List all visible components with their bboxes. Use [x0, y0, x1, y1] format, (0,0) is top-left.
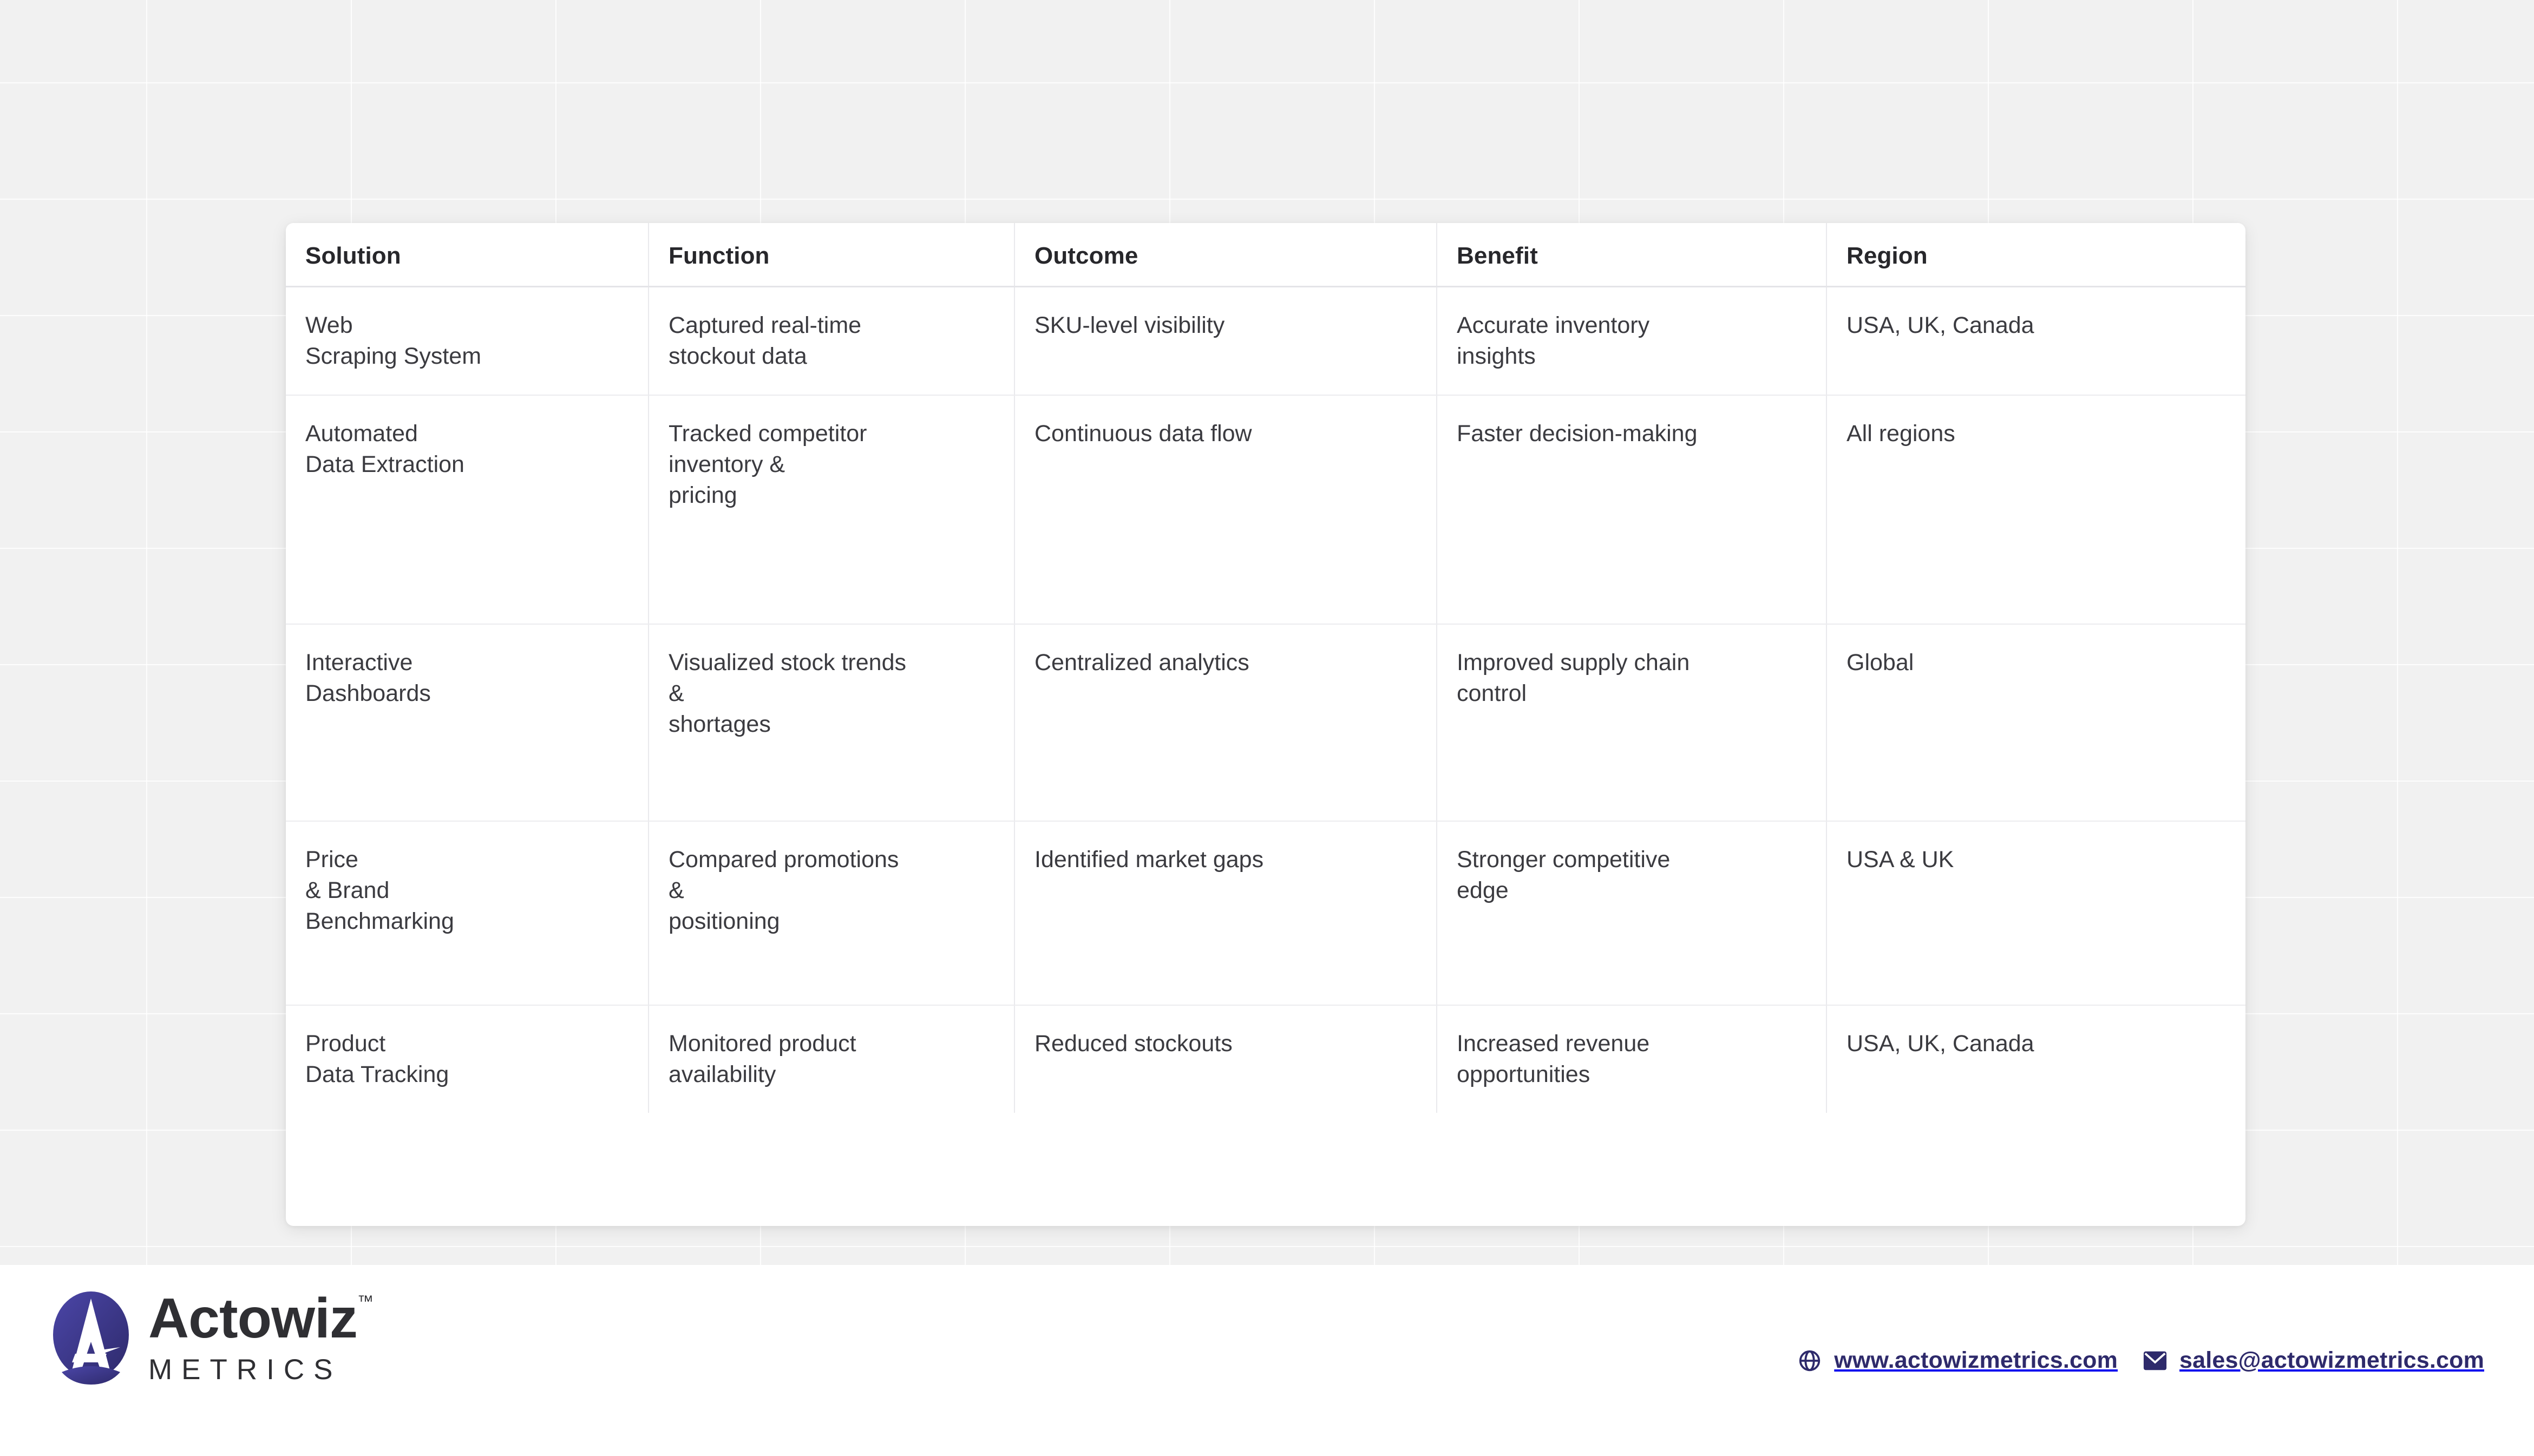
globe-icon: [1797, 1348, 1822, 1373]
column-header-outcome: Outcome: [1014, 223, 1437, 286]
table-header-row: Solution Function Outcome Benefit Region: [286, 223, 2245, 286]
cell-benefit: Stronger competitive edge: [1437, 821, 1826, 1005]
brand-wordmark: Actowiz ™ METRICS: [148, 1290, 374, 1384]
cell-outcome: Identified market gaps: [1014, 821, 1437, 1005]
table-row: Product Data Tracking Monitored product …: [286, 1005, 2245, 1113]
cell-region: USA & UK: [1826, 821, 2245, 1005]
table-body: Web Scraping System Captured real-time s…: [286, 286, 2245, 1113]
website-link-label: www.actowizmetrics.com: [1834, 1347, 2118, 1374]
cell-outcome: SKU-level visibility: [1014, 286, 1437, 395]
email-link-label: sales@actowizmetrics.com: [2179, 1347, 2484, 1374]
cell-function: Tracked competitor inventory & pricing: [649, 395, 1014, 624]
cell-benefit: Faster decision-making: [1437, 395, 1826, 624]
cell-solution: Interactive Dashboards: [286, 624, 649, 821]
table-row: Interactive Dashboards Visualized stock …: [286, 624, 2245, 821]
envelope-icon: [2143, 1350, 2168, 1372]
cell-function: Compared promotions & positioning: [649, 821, 1014, 1005]
cell-benefit: Improved supply chain control: [1437, 624, 1826, 821]
cell-region: All regions: [1826, 395, 2245, 624]
cell-region: Global: [1826, 624, 2245, 821]
email-link[interactable]: sales@actowizmetrics.com: [2143, 1347, 2484, 1374]
cell-region: USA, UK, Canada: [1826, 286, 2245, 395]
trademark-symbol: ™: [357, 1294, 374, 1310]
cell-function: Captured real-time stockout data: [649, 286, 1014, 395]
cell-solution: Web Scraping System: [286, 286, 649, 395]
cell-solution: Automated Data Extraction: [286, 395, 649, 624]
cell-function: Visualized stock trends & shortages: [649, 624, 1014, 821]
table-header: Solution Function Outcome Benefit Region: [286, 223, 2245, 286]
cell-benefit: Accurate inventory insights: [1437, 286, 1826, 395]
actowiz-a-monogram-icon: [50, 1290, 132, 1385]
cell-region: USA, UK, Canada: [1826, 1005, 2245, 1113]
column-header-benefit: Benefit: [1437, 223, 1826, 286]
footer-contact-group: www.actowizmetrics.com sales@actowizmetr…: [1797, 1265, 2484, 1456]
cell-benefit: Increased revenue opportunities: [1437, 1005, 1826, 1113]
cell-function: Monitored product availability: [649, 1005, 1014, 1113]
website-link[interactable]: www.actowizmetrics.com: [1797, 1347, 2118, 1374]
cell-solution: Product Data Tracking: [286, 1005, 649, 1113]
table-row: Price & Brand Benchmarking Compared prom…: [286, 821, 2245, 1005]
cell-solution: Price & Brand Benchmarking: [286, 821, 649, 1005]
cell-outcome: Continuous data flow: [1014, 395, 1437, 624]
table-row: Automated Data Extraction Tracked compet…: [286, 395, 2245, 624]
brand-name: Actowiz: [148, 1290, 357, 1347]
solutions-table: Solution Function Outcome Benefit Region…: [286, 223, 2245, 1113]
brand-logo: Actowiz ™ METRICS: [50, 1290, 374, 1385]
column-header-function: Function: [649, 223, 1014, 286]
column-header-region: Region: [1826, 223, 2245, 286]
brand-subtitle: METRICS: [148, 1355, 374, 1384]
column-header-solution: Solution: [286, 223, 649, 286]
table-row: Web Scraping System Captured real-time s…: [286, 286, 2245, 395]
solutions-table-card: Solution Function Outcome Benefit Region…: [286, 223, 2245, 1226]
cell-outcome: Centralized analytics: [1014, 624, 1437, 821]
cell-outcome: Reduced stockouts: [1014, 1005, 1437, 1113]
page-footer: Actowiz ™ METRICS www.actowizmetrics.com…: [0, 1265, 2534, 1456]
